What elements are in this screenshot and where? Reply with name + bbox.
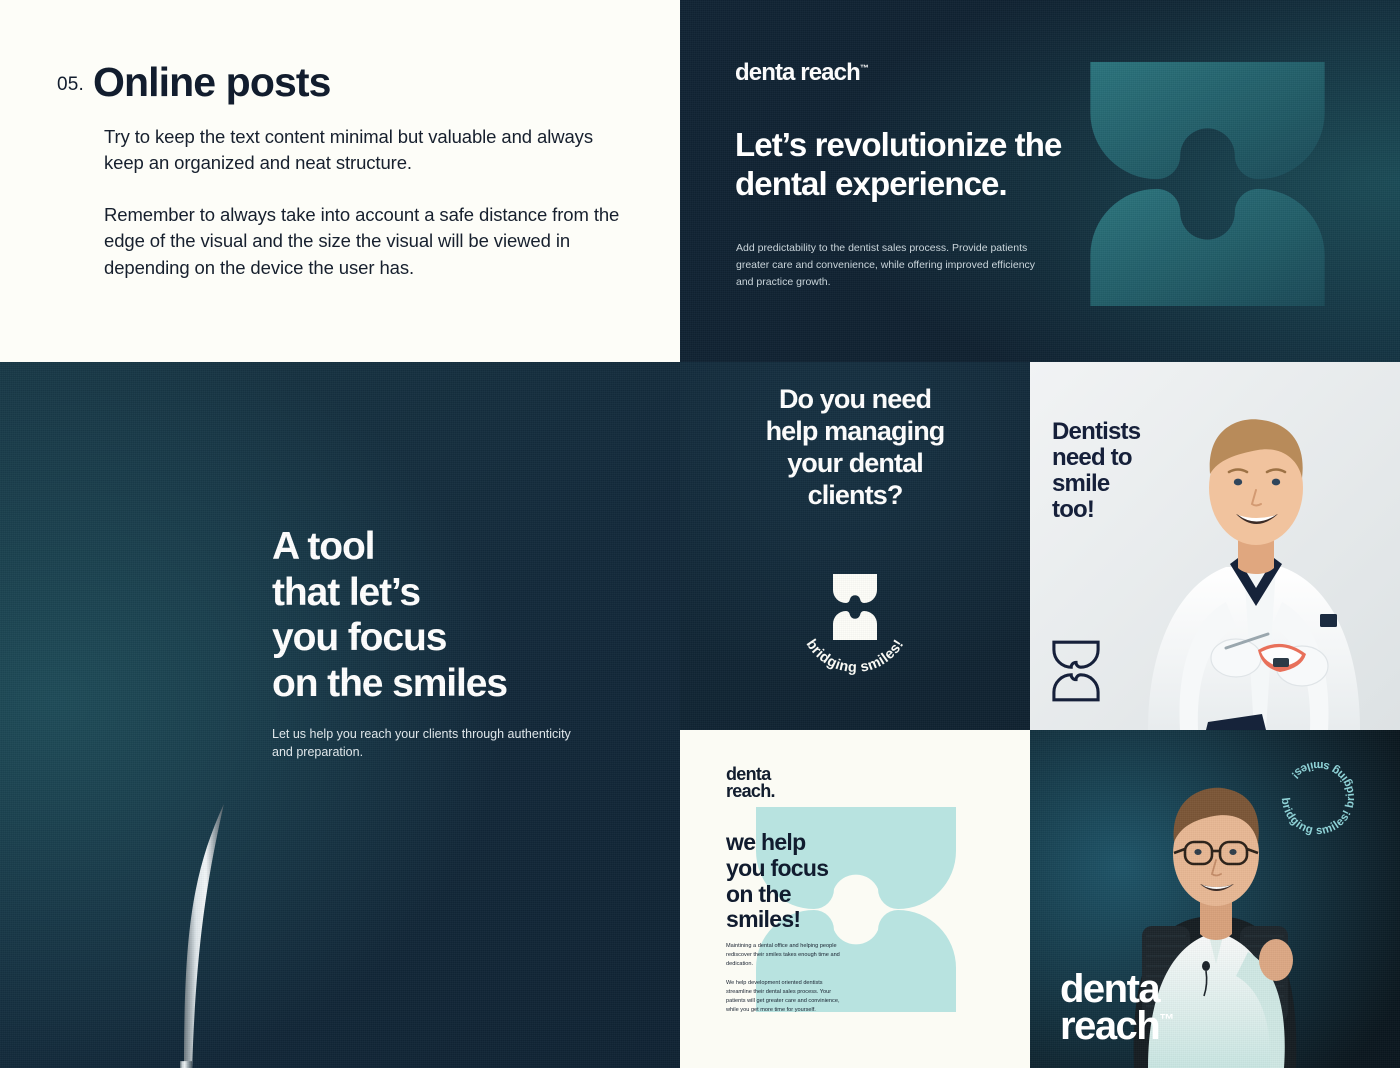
tool-headline-line-2: that let’s	[272, 571, 420, 614]
help-headline-line-1: we help	[726, 829, 805, 855]
hero-post-panel: denta reach™ Let’s revolutionize the den…	[680, 0, 1400, 362]
bridging-smiles-outline-mark-icon: ™	[1052, 640, 1100, 702]
dentist-headline-line-3: smile	[1052, 470, 1109, 497]
help-headline-line-4: smiles!	[726, 906, 800, 932]
bridging-smiles-badge: bridging smiles!	[780, 572, 930, 692]
hero-headline: Let’s revolutionize the dental experienc…	[735, 126, 1155, 204]
dental-probe-image	[108, 792, 258, 1068]
hero-logo: denta reach™	[735, 59, 869, 87]
dentist-post-panel: Dentists need to smile too! ™	[1030, 362, 1400, 730]
tool-post-subcopy: Let us help you reach your clients throu…	[272, 725, 582, 762]
help-post-headline: we help you focus on the smiles!	[726, 830, 946, 933]
intro-body: Try to keep the text content minimal but…	[104, 124, 620, 281]
man-post-wordmark: denta reach™	[1060, 971, 1174, 1046]
ring-text: bridging smiles! bridging smiles!	[1279, 759, 1357, 837]
question-headline-line-3: your dental	[787, 448, 923, 478]
tool-headline-line-3: you focus	[272, 616, 446, 659]
intro-panel: 05. Online posts Try to keep the text co…	[0, 0, 680, 362]
man-wordmark-tm: ™	[1159, 1012, 1174, 1029]
dentist-headline-line-1: Dentists	[1052, 418, 1140, 445]
help-wordmark-tm: .	[771, 781, 775, 801]
help-paragraph-1: Maintining a dental office and helping p…	[726, 942, 848, 970]
help-headline-line-3: on the	[726, 881, 791, 907]
dentist-headline-line-2: need to	[1052, 444, 1132, 471]
tool-post-headline: A tool that let’s you focus on the smile…	[272, 524, 612, 707]
page-title: Online posts	[93, 62, 331, 103]
brand-guidelines-board: 05. Online posts Try to keep the text co…	[0, 0, 1400, 1068]
question-post-headline: Do you need help managing your dental cl…	[680, 384, 1030, 511]
question-headline-line-2: help managing	[766, 416, 945, 446]
svg-text:bridging smiles!: bridging smiles!	[803, 637, 908, 676]
dentist-headline-line-4: too!	[1052, 496, 1094, 523]
page-title-row: 05. Online posts	[57, 62, 620, 103]
dentist-post-headline: Dentists need to smile too!	[1052, 419, 1222, 523]
man-post-logo: denta reach™	[1060, 971, 1174, 1046]
svg-text:bridging smiles! bridging smil: bridging smiles! bridging smiles!	[1279, 759, 1357, 837]
man-wordmark-reach: reach™	[1060, 1008, 1174, 1046]
tool-post-panel: A tool that let’s you focus on the smile…	[0, 362, 680, 1068]
help-post-body: Maintining a dental office and helping p…	[726, 942, 848, 1016]
man-wordmark-denta: denta	[1060, 971, 1174, 1009]
hero-subcopy: Add predictability to the dentist sales …	[736, 240, 1036, 291]
help-post-wordmark: denta reach.	[726, 766, 775, 800]
bridging-smiles-ring: bridging smiles! bridging smiles!	[1268, 748, 1368, 848]
help-headline-line-2: you focus	[726, 855, 828, 881]
tool-headline-line-1: A tool	[272, 525, 374, 568]
question-headline-line-1: Do you need	[779, 384, 931, 414]
intro-paragraph-2: Remember to always take into account a s…	[104, 202, 620, 281]
man-post-panel: bridging smiles! bridging smiles! denta …	[1030, 730, 1400, 1068]
hero-wordmark: denta reach™	[735, 59, 869, 86]
hero-wordmark-tm: ™	[860, 63, 869, 73]
question-headline-line-4: clients?	[808, 480, 903, 510]
intro-paragraph-1: Try to keep the text content minimal but…	[104, 124, 620, 177]
help-post-panel: denta reach. we help you focus on the sm…	[680, 730, 1030, 1068]
help-post-logo: denta reach.	[726, 766, 775, 800]
section-number: 05.	[57, 74, 84, 103]
help-wordmark-reach: reach.	[726, 783, 775, 800]
tool-post-text: A tool that let’s you focus on the smile…	[272, 524, 612, 762]
hero-wordmark-denta: denta	[735, 59, 795, 86]
badge-text: bridging smiles!	[803, 637, 908, 676]
question-post-panel: Do you need help managing your dental cl…	[680, 362, 1030, 730]
help-paragraph-2: We help development oriented dentists st…	[726, 979, 848, 1016]
tool-headline-line-4: on the smiles	[272, 662, 507, 705]
hero-wordmark-reach: reach	[800, 59, 860, 86]
